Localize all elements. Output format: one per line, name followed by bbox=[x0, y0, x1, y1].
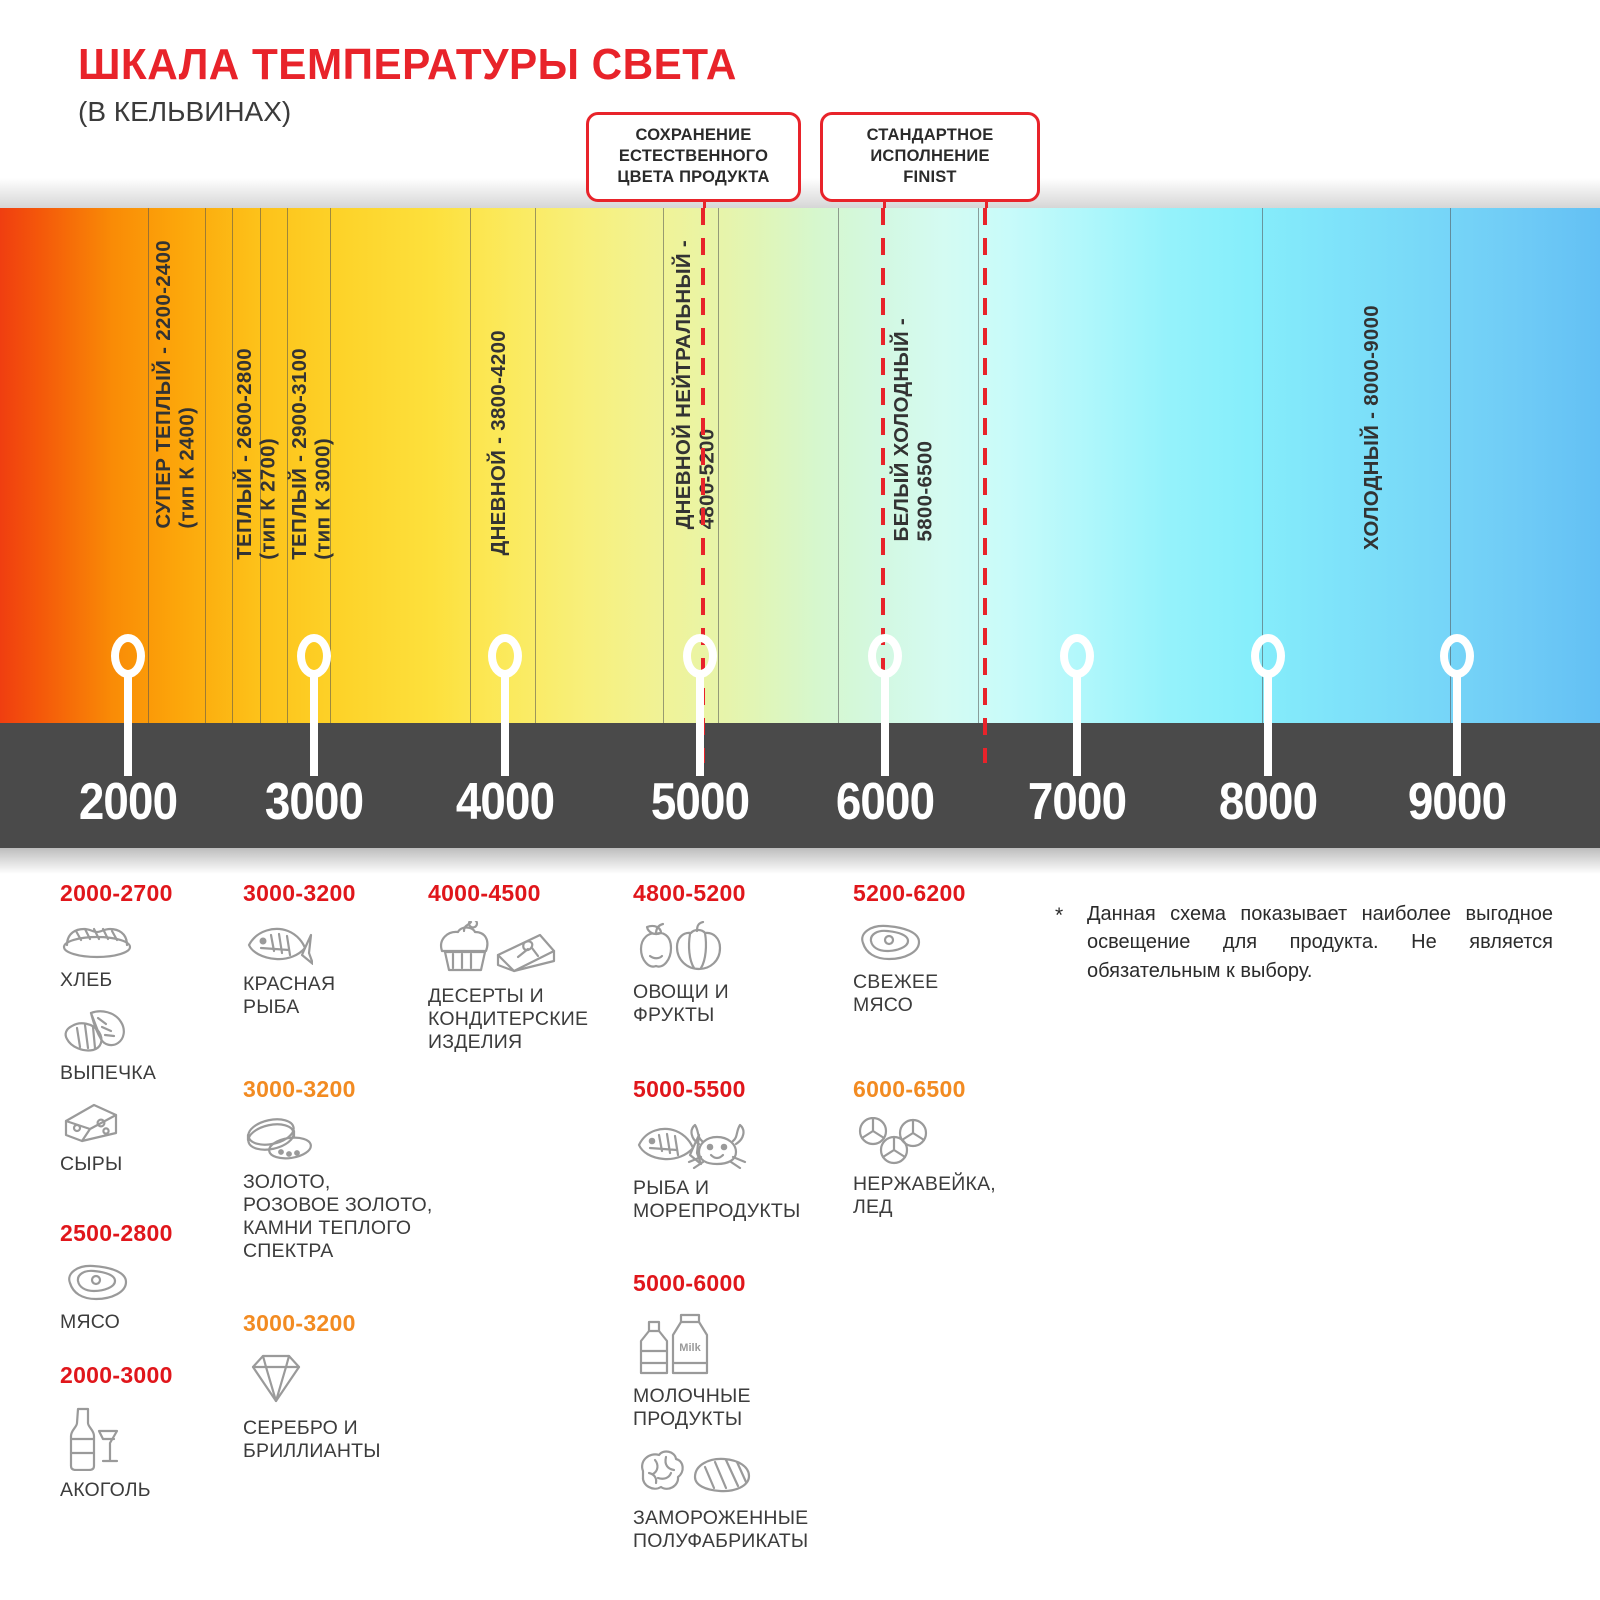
legend-range-5200-6200: 5200-6200 bbox=[853, 880, 1083, 907]
band-label-line2: (тип К 3000) bbox=[312, 348, 336, 560]
pin-ring bbox=[1060, 634, 1094, 678]
scale-number-4000: 4000 bbox=[443, 772, 566, 832]
legend-item-label: АКОГОЛЬ bbox=[60, 1479, 290, 1502]
diamond-icon bbox=[243, 1351, 473, 1409]
callout-line: ЦВЕТА ПРОДУКТА bbox=[603, 167, 784, 188]
legend-item-label-line: МОРЕПРОДУКТЫ bbox=[633, 1200, 863, 1223]
legend-item-label-line: СЕРЕБРО И bbox=[243, 1417, 473, 1440]
band-label-line2: (тип К 2700) bbox=[257, 348, 281, 560]
kelvin-scale-bar: 20003000400050006000700080009000 bbox=[0, 723, 1600, 848]
legend: * Данная схема показывает наиболее выгод… bbox=[0, 880, 1600, 1600]
legend-item: ЗАМОРОЖЕННЫЕПОЛУФАБРИКАТЫ bbox=[633, 1445, 863, 1553]
band-divider bbox=[470, 208, 471, 723]
legend-group: 5000-6000MilkМОЛОЧНЫЕ ПРОДУКТЫЗАМОРОЖЕНН… bbox=[633, 1270, 863, 1553]
legend-group: 6000-6500НЕРЖАВЕЙКА,ЛЕД bbox=[853, 1076, 1083, 1219]
scale-pin-3000 bbox=[297, 634, 331, 778]
band-label-cold: ХОЛОДНЫЙ - 8000-9000 bbox=[1360, 305, 1384, 550]
legend-item-label-line: РЫБА И bbox=[633, 1177, 863, 1200]
scale-number-6000: 6000 bbox=[823, 772, 946, 832]
legend-item-label-line: ЗАМОРОЖЕННЫЕ bbox=[633, 1507, 863, 1530]
scale-number-8000: 8000 bbox=[1206, 772, 1329, 832]
scale-number-7000: 7000 bbox=[1015, 772, 1138, 832]
legend-item: СВЕЖЕЕМЯСО bbox=[853, 921, 1083, 1017]
rings-icon bbox=[243, 1117, 473, 1163]
band-label-line1: БЕЛЫЙ ХОЛОДНЫЙ - bbox=[890, 318, 913, 541]
legend-item: ЗОЛОТО,РОЗОВОЕ ЗОЛОТО,КАМНИ ТЕПЛОГОСПЕКТ… bbox=[243, 1117, 473, 1263]
legend-item-label-line: ЛЕД bbox=[853, 1196, 1083, 1219]
pin-ring bbox=[868, 634, 902, 678]
legend-item-label-line: МОЛОЧНЫЕ ПРОДУКТЫ bbox=[633, 1385, 863, 1431]
scale-pin-2000 bbox=[111, 634, 145, 778]
band-label-line1: СУПЕР ТЕПЛЫЙ - 2200-2400 bbox=[152, 240, 175, 529]
band-divider bbox=[148, 208, 149, 723]
legend-item-label: ЗОЛОТО,РОЗОВОЕ ЗОЛОТО,КАМНИ ТЕПЛОГОСПЕКТ… bbox=[243, 1171, 473, 1263]
legend-item-label-line: ЗОЛОТО, bbox=[243, 1171, 473, 1194]
scale-pin-8000 bbox=[1251, 634, 1285, 778]
scale-pin-4000 bbox=[488, 634, 522, 778]
legend-item-label: ОВОЩИ ИФРУКТЫ bbox=[633, 981, 863, 1027]
legend-item-label-line: ДЕСЕРТЫ И bbox=[428, 985, 658, 1008]
legend-group: 3000-3200ЗОЛОТО,РОЗОВОЕ ЗОЛОТО,КАМНИ ТЕП… bbox=[243, 1076, 473, 1263]
band-divider bbox=[205, 208, 206, 723]
legend-group: 5200-6200СВЕЖЕЕМЯСО bbox=[853, 880, 1083, 1017]
seafood-icon bbox=[633, 1117, 863, 1169]
dessert-icon bbox=[428, 921, 658, 977]
legend-group: 3000-3200СЕРЕБРО ИБРИЛЛИАНТЫ bbox=[243, 1310, 473, 1463]
legend-range-4800-5200: 4800-5200 bbox=[633, 880, 863, 907]
legend-range-3000-3200: 3000-3200 bbox=[243, 1310, 473, 1337]
band-label-line1: ДНЕВНОЙ - 3800-4200 bbox=[487, 330, 510, 555]
pin-stem bbox=[310, 676, 318, 776]
legend-item-label-line: КОНДИТЕРСКИЕ bbox=[428, 1008, 658, 1031]
legend-item-label-line: МЯСО bbox=[853, 994, 1083, 1017]
footnote-text: Данная схема показывает наиболее выгодно… bbox=[1087, 900, 1553, 985]
legend-item: ДЕСЕРТЫ ИКОНДИТЕРСКИЕИЗДЕЛИЯ bbox=[428, 921, 658, 1054]
scale-pin-5000 bbox=[683, 634, 717, 778]
legend-item-label-line: ИЗДЕЛИЯ bbox=[428, 1031, 658, 1054]
pin-ring bbox=[488, 634, 522, 678]
legend-item-label-line: ФРУКТЫ bbox=[633, 1004, 863, 1027]
band-label-line1: ХОЛОДНЫЙ - 8000-9000 bbox=[1360, 305, 1383, 550]
pin-stem bbox=[1453, 676, 1461, 776]
band-label-line2: 5800-6500 bbox=[914, 318, 938, 541]
band-label-super-warm: СУПЕР ТЕПЛЫЙ - 2200-2400(тип К 2400) bbox=[152, 240, 199, 529]
legend-item-label: СВЕЖЕЕМЯСО bbox=[853, 971, 1083, 1017]
band-label-line2: (тип К 2400) bbox=[176, 240, 200, 529]
legend-item: MilkМОЛОЧНЫЕ ПРОДУКТЫ bbox=[633, 1311, 863, 1431]
legend-item-label: МОЛОЧНЫЕ ПРОДУКТЫ bbox=[633, 1385, 863, 1431]
pin-stem bbox=[501, 676, 509, 776]
scale-number-9000: 9000 bbox=[1395, 772, 1518, 832]
pin-stem bbox=[881, 676, 889, 776]
pin-stem bbox=[1264, 676, 1272, 776]
legend-range-6000-6500: 6000-6500 bbox=[853, 1076, 1083, 1103]
legend-item: РЫБА ИМОРЕПРОДУКТЫ bbox=[633, 1117, 863, 1223]
frozen-food-icon bbox=[633, 1445, 863, 1499]
pin-ring bbox=[1440, 634, 1474, 678]
pin-ring bbox=[297, 634, 331, 678]
band-label-warm-3000: ТЕПЛЫЙ - 2900-3100(тип К 3000) bbox=[288, 348, 335, 560]
legend-item: СЕРЕБРО ИБРИЛЛИАНТЫ bbox=[243, 1351, 473, 1463]
pin-stem bbox=[124, 676, 132, 776]
legend-item-label: РЫБА ИМОРЕПРОДУКТЫ bbox=[633, 1177, 863, 1223]
legend-item: НЕРЖАВЕЙКА,ЛЕД bbox=[853, 1117, 1083, 1219]
pin-stem bbox=[1073, 676, 1081, 776]
scale-pin-6000 bbox=[868, 634, 902, 778]
callout-finist-standard: СТАНДАРТНОЕИСПОЛНЕНИЕFINIST bbox=[820, 112, 1040, 202]
scale-number-2000: 2000 bbox=[66, 772, 189, 832]
page-subtitle: (В КЕЛЬВИНАХ) bbox=[78, 96, 291, 128]
temperature-gradient-strip: СУПЕР ТЕПЛЫЙ - 2200-2400(тип К 2400)ТЕПЛ… bbox=[0, 208, 1600, 723]
fruit-veg-icon bbox=[633, 921, 863, 973]
scale-bottom-shadow bbox=[0, 848, 1600, 874]
legend-item-label: СЕРЕБРО ИБРИЛЛИАНТЫ bbox=[243, 1417, 473, 1463]
legend-item-label: ЗАМОРОЖЕННЫЕПОЛУФАБРИКАТЫ bbox=[633, 1507, 863, 1553]
pin-ring bbox=[683, 634, 717, 678]
milk-icon: Milk bbox=[633, 1311, 863, 1377]
callout-line: ЕСТЕСТВЕННОГО bbox=[603, 146, 784, 167]
band-label-daylight-neutral: ДНЕВНОЙ НЕЙТРАЛЬНЫЙ -4800-5200 bbox=[672, 240, 719, 529]
legend-range-5000-5500: 5000-5500 bbox=[633, 1076, 863, 1103]
red-dash-line bbox=[983, 208, 987, 763]
legend-item-label-line: РОЗОВОЕ ЗОЛОТО, bbox=[243, 1194, 473, 1217]
callout-line: ИСПОЛНЕНИЕ bbox=[837, 146, 1023, 167]
legend-item-label: ДЕСЕРТЫ ИКОНДИТЕРСКИЕИЗДЕЛИЯ bbox=[428, 985, 658, 1054]
band-label-line2: 4800-5200 bbox=[696, 240, 720, 529]
band-label-warm-2700: ТЕПЛЫЙ - 2600-2800(тип К 2700) bbox=[233, 348, 280, 560]
legend-item-label-line: СВЕЖЕЕ bbox=[853, 971, 1083, 994]
legend-item-label-line: АКОГОЛЬ bbox=[60, 1479, 290, 1502]
band-label-line1: ТЕПЛЫЙ - 2600-2800 bbox=[233, 348, 256, 560]
legend-item-label-line: ОВОЩИ И bbox=[633, 981, 863, 1004]
legend-group: 5000-5500РЫБА ИМОРЕПРОДУКТЫ bbox=[633, 1076, 863, 1223]
band-label-line1: ТЕПЛЫЙ - 2900-3100 bbox=[288, 348, 311, 560]
band-divider bbox=[663, 208, 664, 723]
scale-pin-7000 bbox=[1060, 634, 1094, 778]
ice-cubes-icon bbox=[853, 1117, 1083, 1165]
legend-range-4000-4500: 4000-4500 bbox=[428, 880, 658, 907]
legend-item-label: НЕРЖАВЕЙКА,ЛЕД bbox=[853, 1173, 1083, 1219]
page-title: ШКАЛА ТЕМПЕРАТУРЫ СВЕТА bbox=[78, 40, 737, 90]
legend-group: 4800-5200ОВОЩИ ИФРУКТЫ bbox=[633, 880, 863, 1027]
fresh-meat-icon bbox=[853, 921, 1083, 963]
band-label-white-cold: БЕЛЫЙ ХОЛОДНЫЙ -5800-6500 bbox=[890, 318, 937, 541]
legend-item: ОВОЩИ ИФРУКТЫ bbox=[633, 921, 863, 1027]
band-label-daylight: ДНЕВНОЙ - 3800-4200 bbox=[487, 330, 511, 555]
svg-text:Milk: Milk bbox=[679, 1342, 701, 1354]
band-label-line1: ДНЕВНОЙ НЕЙТРАЛЬНЫЙ - bbox=[672, 240, 695, 529]
callout-line: FINIST bbox=[837, 167, 1023, 188]
legend-item-label-line: КАМНИ ТЕПЛОГО bbox=[243, 1217, 473, 1240]
callout-line: СТАНДАРТНОЕ bbox=[837, 125, 1023, 146]
steak-icon bbox=[60, 1261, 290, 1303]
callout-natural-color: СОХРАНЕНИЕЕСТЕСТВЕННОГОЦВЕТА ПРОДУКТА bbox=[586, 112, 801, 202]
legend-item-label-line: СПЕКТРА bbox=[243, 1240, 473, 1263]
legend-item-label-line: НЕРЖАВЕЙКА, bbox=[853, 1173, 1083, 1196]
callout-line: СОХРАНЕНИЕ bbox=[603, 125, 784, 146]
legend-group: 4000-4500ДЕСЕРТЫ ИКОНДИТЕРСКИЕИЗДЕЛИЯ bbox=[428, 880, 658, 1054]
scale-number-3000: 3000 bbox=[252, 772, 375, 832]
legend-item-label-line: БРИЛЛИАНТЫ bbox=[243, 1440, 473, 1463]
legend-range-3000-3200: 3000-3200 bbox=[243, 1076, 473, 1103]
scale-number-5000: 5000 bbox=[638, 772, 761, 832]
pin-ring bbox=[111, 634, 145, 678]
pin-stem bbox=[696, 676, 704, 776]
band-divider bbox=[535, 208, 536, 723]
legend-item-label-line: ПОЛУФАБРИКАТЫ bbox=[633, 1530, 863, 1553]
scale-pin-9000 bbox=[1440, 634, 1474, 778]
band-divider bbox=[838, 208, 839, 723]
pin-ring bbox=[1251, 634, 1285, 678]
legend-range-5000-6000: 5000-6000 bbox=[633, 1270, 863, 1297]
band-divider bbox=[978, 208, 979, 723]
